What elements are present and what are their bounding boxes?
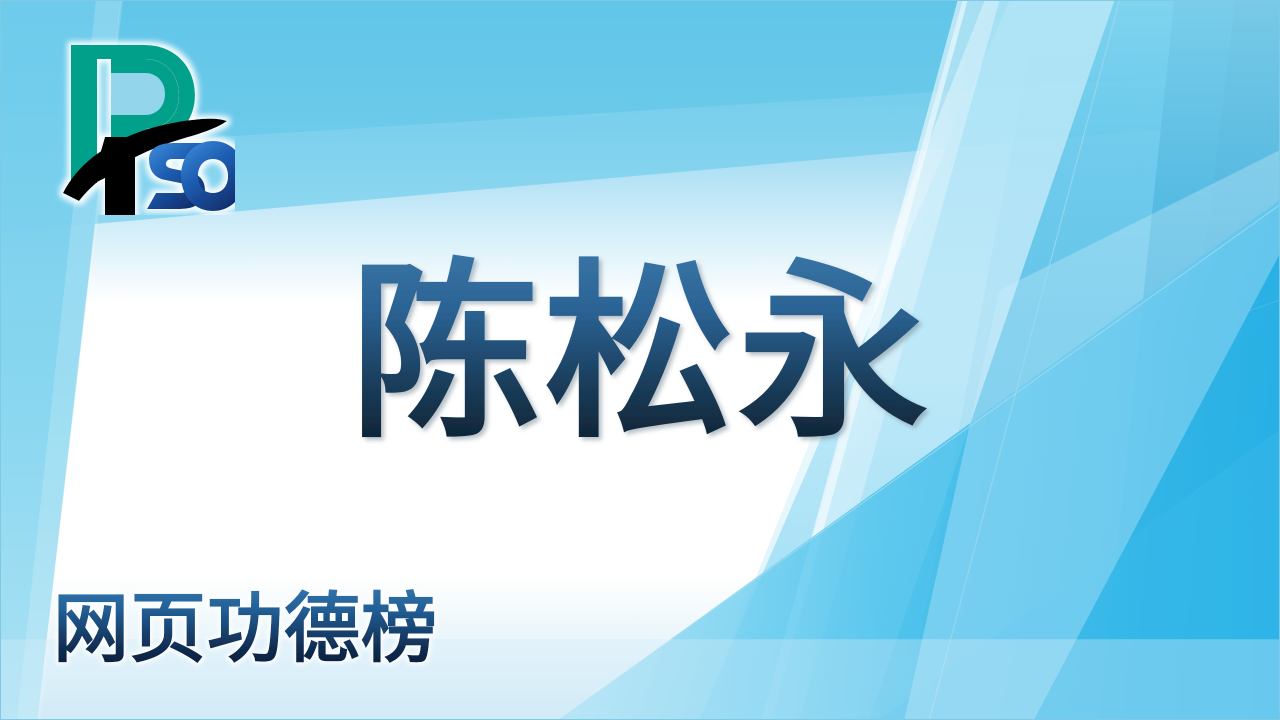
pso-logo-mark — [53, 33, 235, 215]
slide-subtitle-svg: 网页功德榜 — [45, 579, 745, 679]
presentation-slide: 陈松永 — [0, 0, 1280, 720]
logo-letters-so — [147, 141, 235, 211]
slide-subtitle-container: 网页功德榜 — [45, 579, 745, 679]
pso-logo — [53, 33, 235, 215]
subtitle-text: 网页功德榜 — [53, 584, 438, 673]
